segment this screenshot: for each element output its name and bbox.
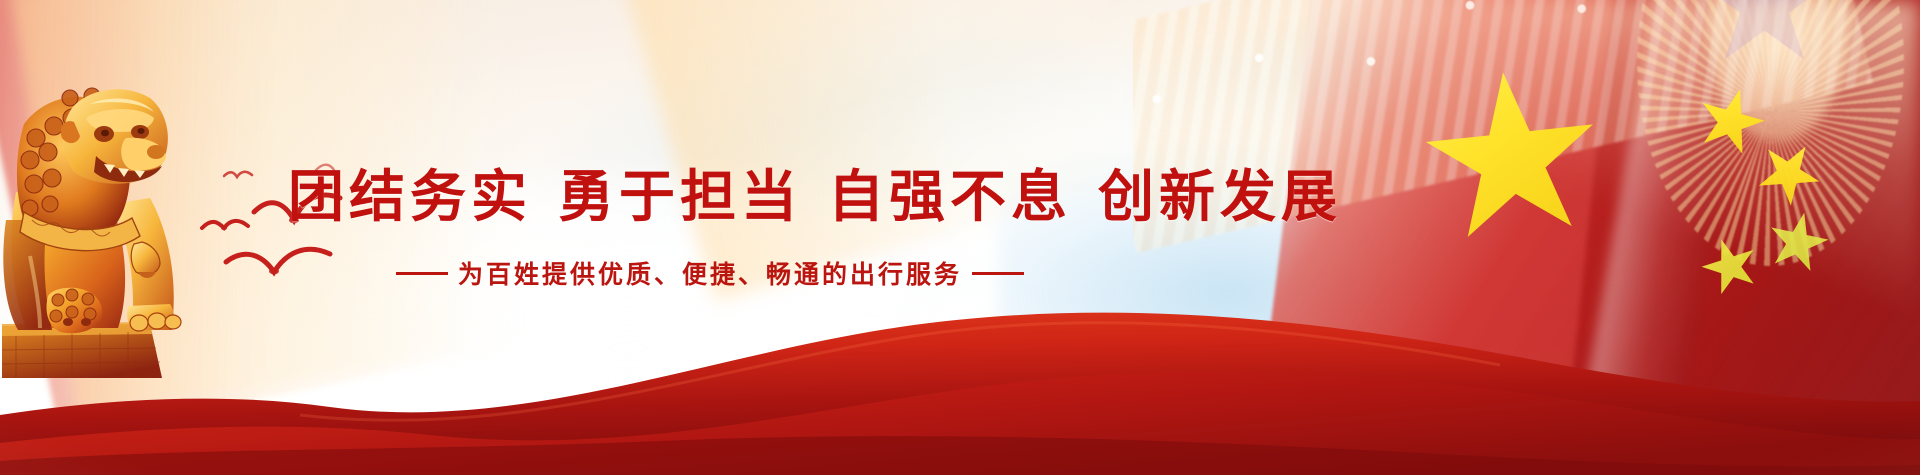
patriotic-banner: 团结务实勇于担当自强不息创新发展 为百姓提供优质、便捷、畅通的出行服务 [0,0,1920,475]
headline-phrase-2: 勇于担当 [558,164,802,230]
headline-phrase-4: 创新发展 [1098,164,1342,230]
headline-phrase-1: 团结务实 [288,164,532,230]
headline-phrase-3: 自强不息 [828,164,1072,230]
banner-headline: 团结务实勇于担当自强不息创新发展 [288,152,1342,233]
red-silk-wave [0,265,1920,475]
